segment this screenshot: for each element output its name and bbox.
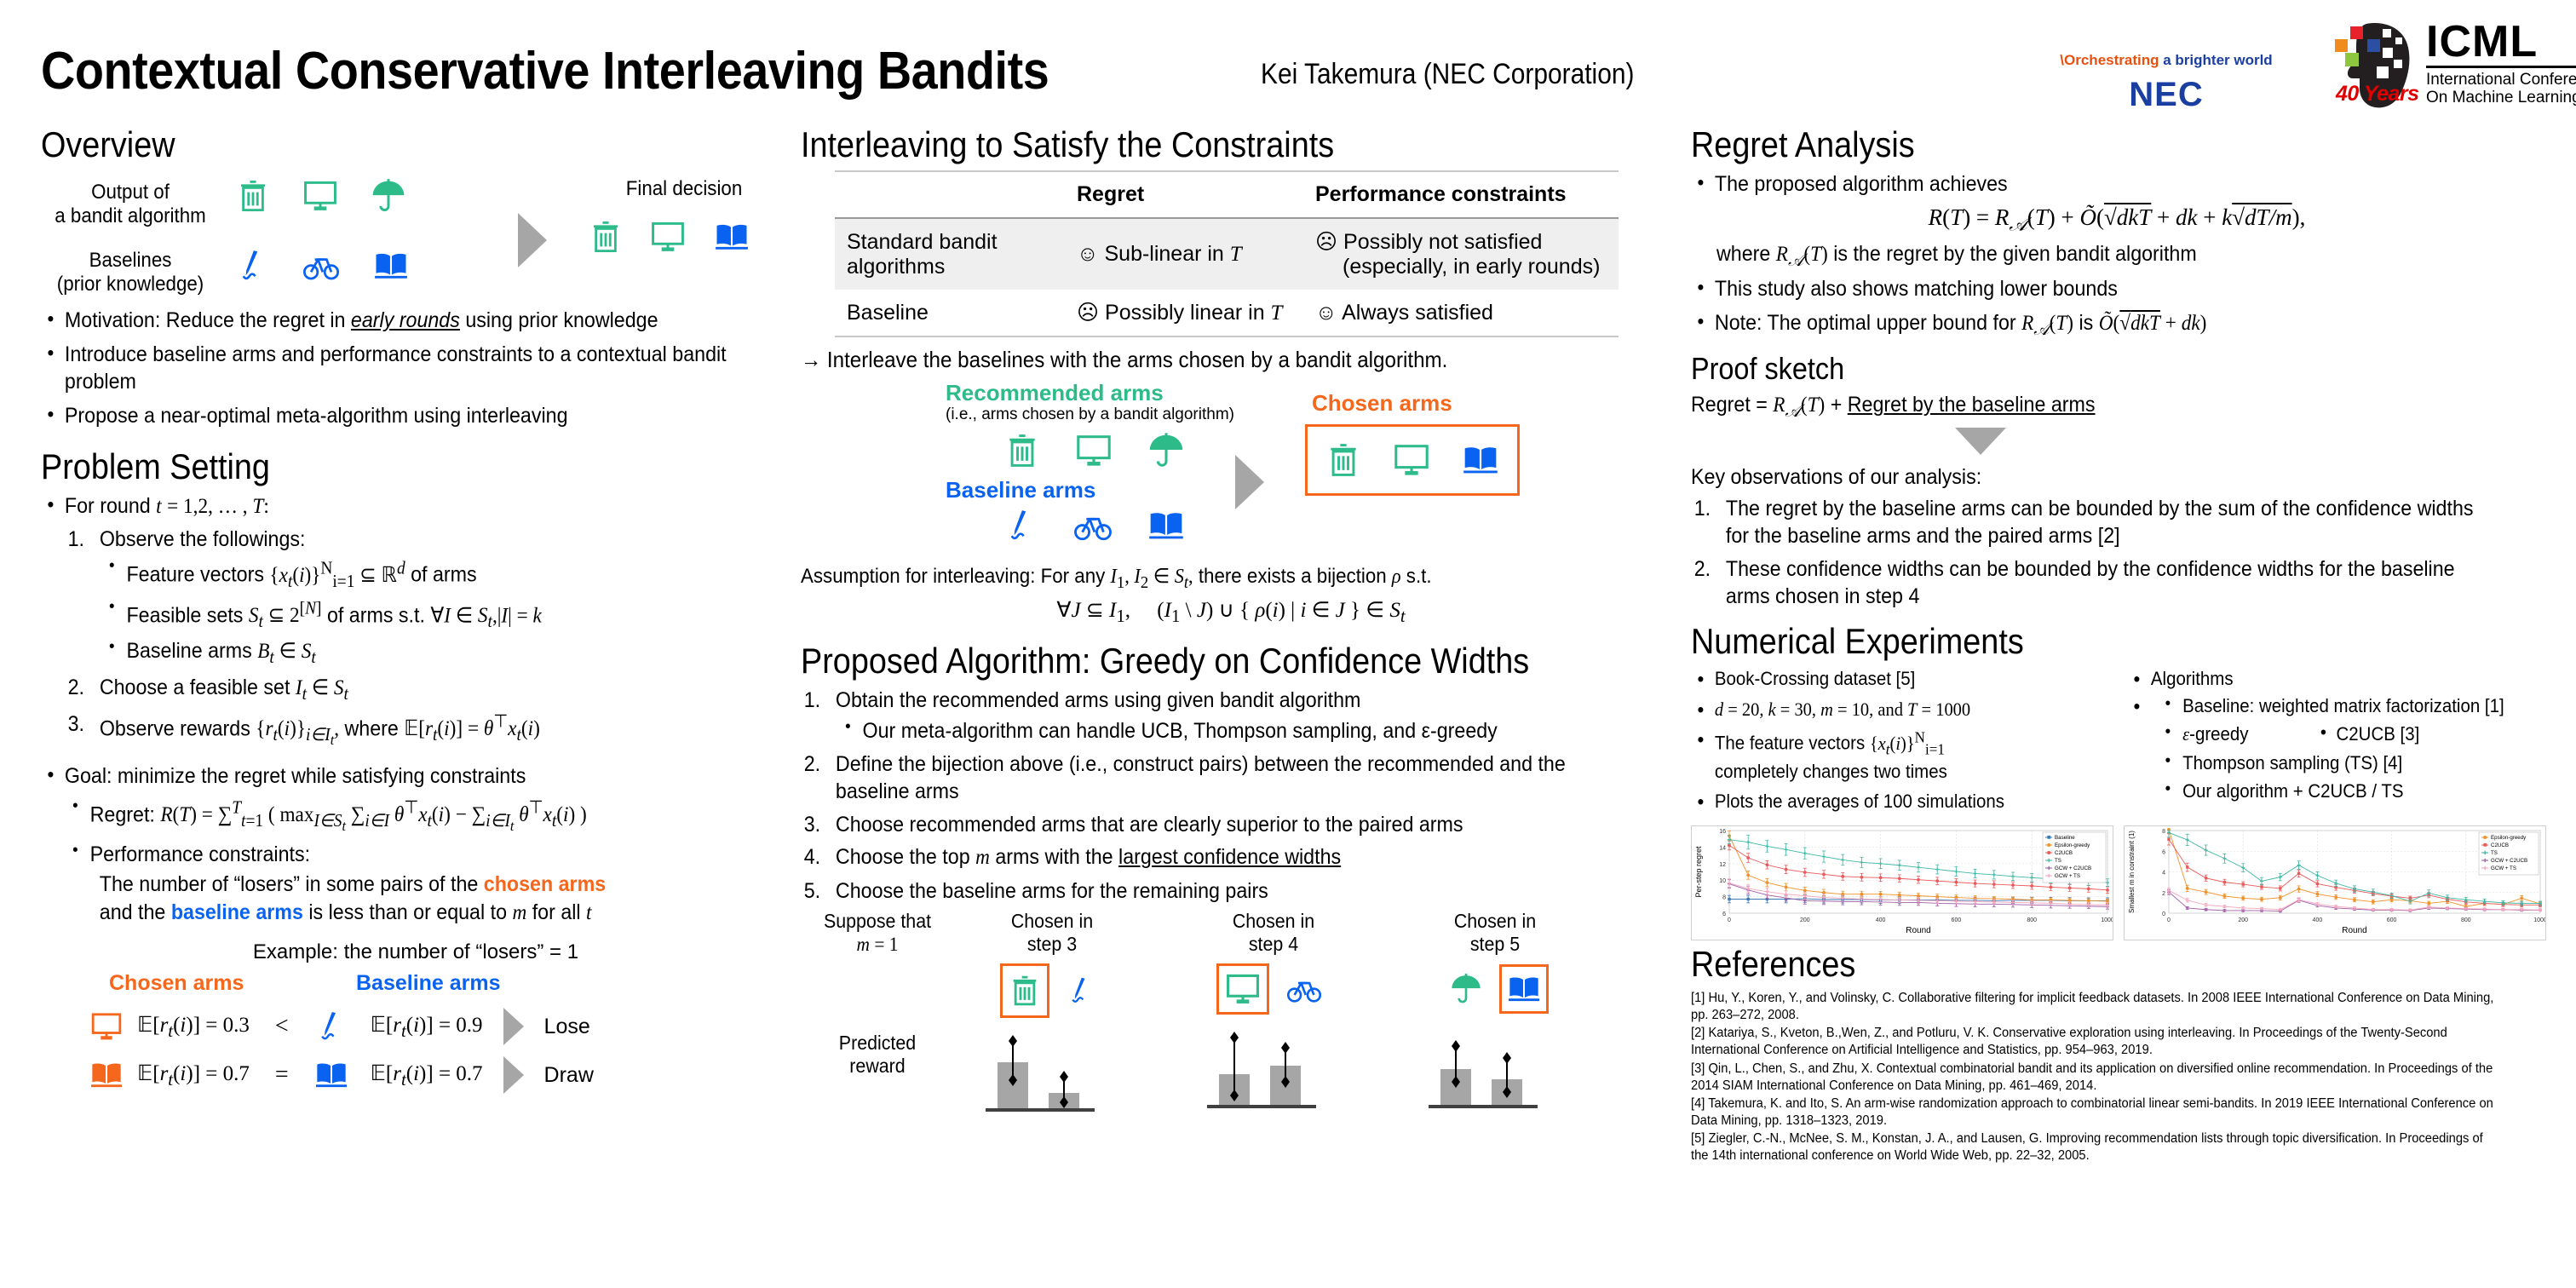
unselected-arm-box	[1441, 963, 1491, 1015]
goal-list: Goal: minimize the regret while satisfyi…	[41, 762, 738, 791]
monitor-icon	[88, 1009, 125, 1044]
reference-item: [4] Takemura, K. and Ito, S. An arm-wise…	[1691, 1095, 2500, 1130]
svg-text:Baseline: Baseline	[2055, 835, 2075, 841]
svg-text:0: 0	[2167, 917, 2171, 923]
icml-wordmark-group: ICML International Conference On Machine…	[2426, 22, 2576, 106]
svg-text:TS: TS	[2491, 850, 2498, 856]
svg-text:TS: TS	[2055, 858, 2061, 864]
reference-item: [1] Hu, Y., Koren, Y., and Volinsky, C. …	[1691, 990, 2500, 1024]
icml-subtitle-line1: International Conference	[2426, 71, 2576, 89]
step5-icon-pair	[1401, 963, 1589, 1015]
monitor-icon	[647, 218, 688, 256]
proof-underline-text: Regret by the baseline arms	[1848, 393, 2096, 417]
list-item: Feasible sets St ⊆ 2[N] of arms s.t. ∀I …	[100, 597, 739, 633]
section-heading-overview: Overview	[41, 126, 716, 164]
bar-chart-svg	[1410, 1020, 1580, 1112]
list-item: d = 20, k = 30, m = 10, and T = 1000	[1691, 698, 2079, 722]
monitor-icon	[300, 177, 341, 215]
section-heading-experiments: Numerical Experiments	[1691, 623, 2458, 660]
step4-h1: Chosen in	[1233, 910, 1314, 932]
list-item: Obtain the recommended arms using given …	[801, 687, 1601, 745]
step-diagram-labels: Suppose thatm = 1 Predictedreward	[801, 910, 954, 1078]
algo-eps-greedy: ε-greedy	[2182, 722, 2317, 747]
recommended-arms-sublabel: (i.e., arms chosen by a bandit algorithm…	[946, 405, 1234, 424]
frowny-icon: ☹	[1077, 301, 1099, 325]
nec-tagline-blue: a brighter world	[2163, 52, 2272, 68]
list-item: Motivation: Reduce the regret in early r…	[41, 307, 738, 335]
pen-icon	[1003, 504, 1039, 547]
overview-recommended-icons	[235, 175, 407, 216]
nec-wordmark: NEC	[2051, 76, 2281, 114]
table-header-row: Regret Performance constraints	[835, 171, 1619, 218]
svg-text:1000: 1000	[2101, 917, 2113, 923]
chosen-arms-box	[1305, 424, 1520, 496]
step3-bar-chart	[958, 1023, 1146, 1117]
list-item: Choose the top m arms with the largest c…	[801, 843, 1601, 872]
icml-40-years-badge: 40 Years	[2336, 82, 2419, 106]
trash-icon	[1003, 429, 1041, 472]
observe-sublist: Feature vectors {xt(i)}Ni=1 ⊆ ℝd of arms…	[100, 556, 739, 669]
example-col-baseline-label: Baseline arms	[356, 971, 501, 996]
algorithms-sublist-wrap: Baseline: weighted matrix factorization …	[2127, 694, 2507, 804]
row-perf-text: Possibly not satisfied	[1343, 230, 1542, 254]
list-item: Book-Crossing dataset [5]	[1691, 667, 2079, 692]
smiley-icon: ☺	[1315, 301, 1337, 325]
svg-text:Per-step regret: Per-step regret	[1694, 846, 1703, 898]
references-list: [1] Hu, Y., Koren, Y., and Volinsky, C. …	[1691, 990, 2500, 1164]
bar-chart-svg	[967, 1023, 1137, 1115]
bicycle-icon	[1072, 506, 1114, 545]
pen-icon	[1066, 971, 1096, 1010]
selected-arm-box	[1216, 963, 1269, 1015]
proof-equation-line: Regret = R𝒜(T) + Regret by the baseline …	[1691, 391, 2483, 423]
expected-reward-right: 𝔼[rt(i)] = 0.9	[371, 1012, 483, 1042]
row-regret-text: Sub-linear in T	[1104, 242, 1241, 266]
result-label: Draw	[544, 1063, 594, 1088]
recommended-arms-icons	[1003, 429, 1186, 472]
svg-text:400: 400	[1876, 917, 1886, 923]
predicted-line1: Predicted	[839, 1032, 916, 1054]
comparison-table: Regret Performance constraints Standard …	[835, 170, 1619, 337]
problem-setting-list: For round t = 1,2, … , T: Observe the fo…	[41, 492, 738, 750]
list-item: Propose a near-optimal meta-algorithm us…	[41, 402, 738, 430]
step4-h2: step 4	[1249, 933, 1298, 955]
pen-icon	[235, 245, 271, 286]
comparison-operator: <	[275, 1013, 289, 1040]
svg-text:GCW + TS: GCW + TS	[2055, 873, 2080, 879]
list-item: This study also shows matching lower bou…	[1691, 275, 2483, 303]
section-heading-interleaving: Interleaving to Satisfy the Constraints	[801, 126, 1575, 164]
svg-text:GCW + C2UCB: GCW + C2UCB	[2055, 865, 2091, 871]
interleaving-assumption: Assumption for interleaving: For any I1,…	[801, 563, 1601, 594]
monitor-icon	[1073, 431, 1114, 470]
list-item: Choose recommended arms that are clearly…	[801, 811, 1601, 839]
svg-text:Epsilon-greedy: Epsilon-greedy	[2055, 842, 2090, 848]
row-perf: ☺ Always satisfied	[1303, 290, 1619, 336]
expected-reward-left: 𝔼[rt(i)] = 0.3	[137, 1012, 250, 1042]
svg-text:Round: Round	[1906, 926, 1930, 935]
row-label: Standard banditalgorithms	[835, 218, 1065, 290]
comparison-operator: =	[275, 1061, 289, 1089]
nec-tagline: \Orchestrating a brighter world	[2051, 53, 2281, 67]
table-col-name	[835, 171, 1065, 218]
predicted-reward-label: Predictedreward	[806, 1032, 948, 1078]
book-icon	[1507, 970, 1541, 1008]
suppose-text: Suppose that	[824, 910, 931, 932]
svg-text:10: 10	[1719, 878, 1726, 884]
list-item: Performance constraints: The number of “…	[63, 841, 739, 928]
book-icon	[1461, 441, 1500, 479]
step4-bar-chart	[1180, 1020, 1367, 1113]
author-affiliation: Kei Takemura (NEC Corporation)	[1261, 58, 1634, 91]
example-diagram: Chosen arms Baseline arms 𝔼[rt(i)] = 0.3…	[41, 971, 791, 1099]
svg-text:Round: Round	[2342, 926, 2366, 935]
recommended-arms-label: Recommended arms	[946, 380, 1164, 406]
book-icon	[314, 1058, 348, 1092]
list-item: Regret: R(T) = ∑Tt=1 ( maxI∈St ∑i∈I θ⊤xt…	[63, 796, 739, 837]
svg-text:14: 14	[1719, 845, 1726, 851]
svg-text:C2UCB: C2UCB	[2491, 842, 2509, 848]
list-item: Feature vectors {xt(i)}Ni=1 ⊆ ℝd of arms	[100, 556, 739, 592]
book-icon	[371, 248, 411, 284]
expected-reward-left: 𝔼[rt(i)] = 0.7	[137, 1061, 250, 1090]
book-icon	[88, 1058, 125, 1092]
table-row: 𝔼[rt(i)] = 0.7 = 𝔼[rt(i)] = 0.7 Draw	[88, 1056, 594, 1094]
step5-column: Chosen instep 5	[1401, 910, 1589, 1113]
baseline-arms-icons	[1003, 504, 1186, 547]
table-col-perf: Performance constraints	[1303, 171, 1619, 218]
list-item: Plots the averages of 100 simulations	[1691, 790, 2079, 814]
svg-text:GCW + C2UCB: GCW + C2UCB	[2491, 858, 2527, 864]
list-item: Observe the followings: Feature vectors …	[65, 526, 739, 669]
result-label: Lose	[544, 1015, 590, 1039]
svg-text:600: 600	[2387, 917, 2397, 923]
list-item: Algorithms	[2127, 667, 2507, 692]
trash-icon	[588, 216, 624, 257]
unselected-arm-box	[1278, 965, 1331, 1013]
selected-arm-box	[1000, 963, 1049, 1018]
poster-root: Contextual Conservative Interleaving Ban…	[0, 0, 2576, 1288]
trash-icon	[1008, 969, 1042, 1012]
interleave-arrow-icon	[1235, 455, 1264, 509]
interleaving-assumption-equation: ∀J ⊆ I1, (I1 \ J) ∪ { ρ(i) | i ∈ J } ∈ S…	[801, 597, 1661, 627]
step5-bar-chart	[1401, 1020, 1589, 1113]
overview-output-line2: a bandit algorithm	[55, 204, 205, 227]
svg-text:200: 200	[1800, 917, 1810, 923]
overview-baselines-line1: Baselines	[89, 249, 172, 272]
overview-final-icons	[588, 216, 751, 257]
icml-logo: 40 Years ICML International Conference O…	[2334, 19, 2564, 112]
svg-text:Smallest m in constraint (1): Smallest m in constraint (1)	[2128, 831, 2136, 913]
section-heading-regret: Regret Analysis	[1691, 126, 2458, 164]
baseline-arms-label: Baseline arms	[946, 477, 1095, 503]
svg-text:1000: 1000	[2533, 917, 2545, 923]
trash-icon	[235, 175, 271, 216]
svg-text:8: 8	[1722, 895, 1726, 901]
svg-text:0: 0	[2162, 911, 2165, 917]
list-item: Baseline: weighted matrix factorization …	[2155, 694, 2507, 719]
goal-sublist: Regret: R(T) = ∑Tt=1 ( maxI∈St ∑i∈I θ⊤xt…	[63, 796, 739, 928]
step3-icon-pair	[958, 963, 1146, 1018]
chart-per-step-regret: 681012141602004006008001000RoundPer-step…	[1691, 825, 2113, 940]
svg-text:GCW + TS: GCW + TS	[2491, 865, 2516, 871]
poster-header: Contextual Conservative Interleaving Ban…	[0, 0, 2576, 128]
svg-text:6: 6	[1722, 911, 1726, 917]
experiments-columns: Book-Crossing dataset [5] d = 20, k = 30…	[1691, 667, 2543, 820]
table-body: Standard banditalgorithms ☺ Sub-linear i…	[835, 218, 1619, 336]
selected-arm-box	[1499, 964, 1549, 1014]
overview-baselines-line2: (prior knowledge)	[57, 273, 204, 296]
list-item: Our meta-algorithm can handle UCB, Thomp…	[836, 717, 1601, 745]
row-perf: ☹ Possibly not satisfied(especially, in …	[1303, 218, 1619, 290]
svg-text:12: 12	[1719, 862, 1726, 868]
step5-h1: Chosen in	[1454, 910, 1536, 932]
algo-step4-underline: largest confidence widths	[1118, 845, 1341, 869]
overview-baselines-label: Baselines (prior knowledge)	[47, 249, 213, 297]
section-heading-algorithm: Proposed Algorithm: Greedy on Confidence…	[801, 642, 1575, 680]
pen-icon	[314, 1007, 348, 1046]
algorithm-steps-list: Obtain the recommended arms using given …	[801, 687, 1601, 906]
perf-text-c: is less than or equal to m for all t	[303, 900, 592, 924]
algo-step-1: Obtain the recommended arms using given …	[836, 688, 1360, 712]
example-col-chosen-label: Chosen arms	[109, 971, 244, 996]
section-heading-problem: Problem Setting	[41, 448, 716, 486]
list-item: Thompson sampling (TS) [4]	[2155, 751, 2507, 776]
experiment-plots: 681012141602004006008001000RoundPer-step…	[1691, 825, 2543, 940]
perf-text-b: and the	[100, 900, 171, 924]
result-arrow-icon	[503, 1056, 524, 1094]
table-row: 𝔼[rt(i)] = 0.3 < 𝔼[rt(i)] = 0.9 Lose	[88, 1007, 590, 1046]
bar-chart-svg	[1188, 1020, 1359, 1112]
bicycle-icon	[1285, 971, 1323, 1007]
overview-diagram: Output of a bandit algorithm Baselines (…	[41, 170, 791, 298]
reference-item: [5] Ziegler, C.-N., McNee, S. M., Konsta…	[1691, 1130, 2500, 1164]
list-item: ε-greedy•C2UCB [3]	[2155, 722, 2507, 747]
svg-text:800: 800	[2461, 917, 2471, 923]
reference-item: [3] Qin, L., Chen, S., and Zhu, X. Conte…	[1691, 1061, 2500, 1095]
row-perf-text: Always satisfied	[1342, 301, 1493, 325]
example-title: Example: the number of “losers” = 1	[41, 940, 791, 964]
monitor-icon	[1224, 969, 1262, 1009]
expected-reward-right: 𝔼[rt(i)] = 0.7	[371, 1061, 483, 1090]
algo-c2ucb: •C2UCB [3]	[2317, 722, 2419, 747]
list-item: Choose the baseline arms for the remaini…	[801, 877, 1601, 906]
algorithms-sublist: Baseline: weighted matrix factorization …	[2155, 694, 2507, 804]
svg-text:6: 6	[2162, 849, 2165, 855]
bicycle-icon	[300, 247, 342, 285]
table-row: Baseline ☹ Possibly linear in T ☺ Always…	[835, 290, 1619, 336]
svg-text:16: 16	[1719, 829, 1726, 835]
list-item: Note: The optimal upper bound for R𝒜(T) …	[1691, 309, 2483, 341]
emphasis-early-rounds: early rounds	[351, 308, 460, 332]
section-heading-references: References	[1691, 946, 2458, 983]
unselected-arm-box	[1058, 965, 1104, 1016]
regret-bullets2: This study also shows matching lower bou…	[1691, 275, 2483, 341]
frowny-icon: ☹	[1315, 230, 1337, 254]
list-item: Our algorithm + C2UCB / TS	[2155, 779, 2507, 804]
overview-arrow-icon	[518, 213, 547, 267]
list-item: Goal: minimize the regret while satisfyi…	[41, 762, 738, 791]
section-heading-proof: Proof sketch	[1691, 353, 2458, 385]
icml-wordmark: ICML	[2426, 22, 2576, 63]
page-title: Contextual Conservative Interleaving Ban…	[41, 41, 1049, 101]
list-item: Choose a feasible set It ∈ St	[65, 674, 739, 705]
svg-text:200: 200	[2238, 917, 2248, 923]
regret-bullets: The proposed algorithm achieves	[1691, 170, 2483, 198]
monitor-icon	[1391, 440, 1432, 480]
row-perf-text2: (especially, in early rounds)	[1343, 255, 1600, 279]
list-item: The proposed algorithm achieves	[1691, 170, 2483, 198]
book-icon	[712, 219, 751, 255]
chart-smallest-m: 0246802004006008001000RoundSmallest m in…	[2124, 825, 2546, 940]
trash-icon	[1325, 439, 1362, 481]
svg-text:4: 4	[2162, 870, 2165, 876]
list-item: Introduce baseline arms and performance …	[41, 341, 738, 396]
key-observations-label: Key observations of our analysis:	[1691, 463, 2483, 492]
step4-header: Chosen instep 4	[1187, 910, 1361, 956]
list-item: The feature vectors {xt(i)}Ni=1completel…	[1691, 727, 2079, 784]
list-item: The regret by the baseline arms can be b…	[1691, 495, 2483, 550]
list-item: Observe rewards {rt(i)}i∈It, where 𝔼[rt(…	[65, 710, 739, 750]
smiley-icon: ☺	[1077, 242, 1099, 266]
umbrella-icon	[1449, 969, 1483, 1009]
step3-h1: Chosen in	[1011, 910, 1093, 932]
overview-baseline-icons	[235, 245, 411, 286]
table-head: Regret Performance constraints	[835, 171, 1619, 218]
predicted-line2: reward	[849, 1055, 905, 1077]
icml-subtitle-line2: On Machine Learning	[2426, 89, 2576, 106]
row-regret-text: Possibly linear in T	[1105, 301, 1282, 325]
overview-bullet-list: Motivation: Reduce the regret in early r…	[41, 307, 738, 429]
step4-column: Chosen instep 4	[1180, 910, 1367, 1113]
step3-column: Chosen instep 3	[958, 910, 1146, 1116]
row-label: Baseline	[835, 290, 1065, 336]
experiments-right-bullets: Algorithms Baseline: weighted matrix fac…	[2127, 667, 2507, 820]
suppose-label: Suppose thatm = 1	[806, 910, 948, 956]
result-arrow-icon	[503, 1008, 524, 1045]
highlight-baseline-arms: baseline arms	[171, 900, 303, 924]
table-row: Standard banditalgorithms ☺ Sub-linear i…	[835, 218, 1619, 290]
interleave-conclusion: → Interleave the baselines with the arms…	[801, 346, 1601, 375]
row-regret: ☹ Possibly linear in T	[1065, 290, 1303, 336]
chart-per-step-regret-svg: 681012141602004006008001000RoundPer-step…	[1692, 826, 2113, 935]
list-item: For round t = 1,2, … , T: Observe the fo…	[41, 492, 738, 750]
interleaving-diagram: Recommended arms (i.e., arms chosen by a…	[801, 377, 1661, 560]
list-item: These confidence widths can be bounded b…	[1691, 555, 2483, 611]
list-item: Baseline arms Bt ∈ St	[100, 637, 739, 669]
table-col-regret: Regret	[1065, 171, 1303, 218]
overview-output-line1: Output of	[91, 181, 170, 204]
overview-final-label: Final decision	[593, 177, 775, 201]
list-item: Define the bijection above (i.e., constr…	[801, 750, 1601, 806]
umbrella-icon	[1147, 429, 1186, 472]
svg-text:0: 0	[1728, 917, 1731, 923]
svg-text:Epsilon-greedy: Epsilon-greedy	[2491, 835, 2527, 841]
chart-smallest-m-svg: 0246802004006008001000RoundSmallest m in…	[2125, 826, 2545, 935]
algo-step-1-sublist: Our meta-algorithm can handle UCB, Thomp…	[836, 717, 1601, 745]
algo-c2ucb-text: C2UCB [3]	[2337, 723, 2420, 745]
step4-icon-pair	[1180, 963, 1367, 1015]
perf-constraints-text: The number of “losers” in some pairs of …	[100, 871, 739, 927]
svg-text:600: 600	[1952, 917, 1962, 923]
down-arrow-icon	[1955, 428, 2006, 455]
umbrella-icon	[370, 175, 407, 216]
book-icon	[1147, 507, 1186, 544]
reference-item: [2] Katariya, S., Kveton, B.,Wen, Z., an…	[1691, 1025, 2500, 1059]
highlight-chosen-arms: chosen arms	[484, 872, 606, 896]
step3-h2: step 3	[1027, 933, 1077, 955]
column-middle: Interleaving to Satisfy the Constraints …	[801, 126, 1661, 1118]
row-regret: ☺ Sub-linear in T	[1065, 218, 1303, 290]
problem-steps-list: Observe the followings: Feature vectors …	[65, 526, 739, 750]
svg-text:400: 400	[2313, 917, 2323, 923]
svg-text:C2UCB: C2UCB	[2055, 850, 2073, 856]
step5-header: Chosen instep 5	[1408, 910, 1583, 956]
nec-tagline-orange: Orchestrating	[2064, 52, 2159, 68]
chosen-arms-label: Chosen arms	[1312, 390, 1452, 417]
key-observations-list: The regret by the baseline arms can be b…	[1691, 495, 2483, 611]
experiments-left-bullets: Book-Crossing dataset [5] d = 20, k = 30…	[1691, 667, 2079, 820]
svg-text:2: 2	[2162, 891, 2165, 897]
regret-equation: R(T) = R𝒜(T) + Õ(√dkT + dk + k√dT/m),	[1691, 204, 2543, 235]
algorithm-step-diagram: Suppose thatm = 1 Predictedreward Chosen…	[801, 910, 1661, 1118]
svg-text:8: 8	[2162, 829, 2165, 835]
step5-h2: step 5	[1470, 933, 1520, 955]
perf-text-a: The number of “losers” in some pairs of …	[100, 872, 484, 896]
overview-output-label: Output of a bandit algorithm	[47, 181, 213, 229]
svg-text:800: 800	[2027, 917, 2037, 923]
nec-logo: \Orchestrating a brighter world NEC	[2051, 53, 2281, 114]
regret-where: where R𝒜(T) is the regret by the given b…	[1716, 240, 2485, 272]
step3-header: Chosen instep 3	[965, 910, 1140, 956]
column-left: Overview Output of a bandit algorithm Ba…	[41, 126, 791, 1099]
perf-constraints-label: Performance constraints:	[90, 842, 310, 866]
column-right: Regret Analysis The proposed algorithm a…	[1691, 126, 2543, 1165]
